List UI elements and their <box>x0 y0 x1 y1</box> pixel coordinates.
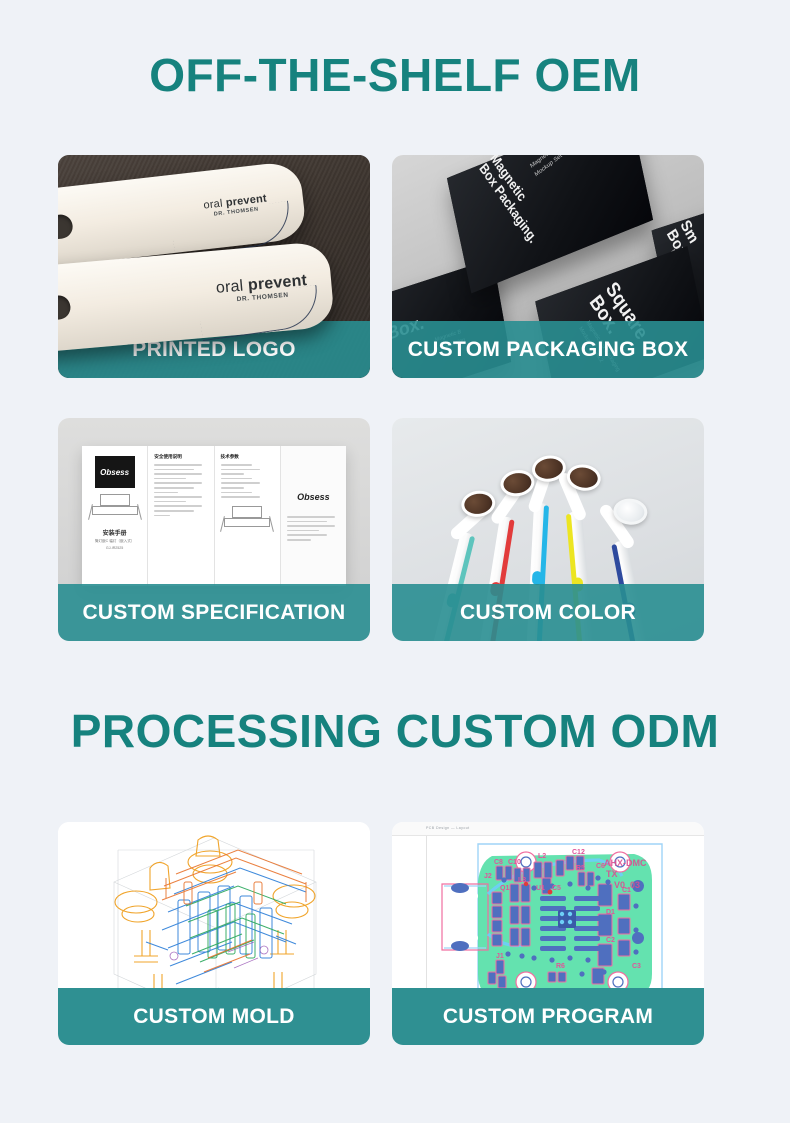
card-printed-logo[interactable]: oral prevent DR. THOMSEN oral prevent DR… <box>58 155 370 378</box>
pcb-ref-j2: J2 <box>484 873 492 880</box>
pcb-ref-c5: C5 <box>552 885 561 892</box>
pcb-ref-c2: C2 <box>606 937 615 944</box>
brochure-panel-safety: 安全使用说明 <box>148 446 214 586</box>
page-root: OFF-THE-SHELF OEM oral prevent DR. THOMS… <box>0 0 790 1123</box>
cover-subtitle-1: 筒灯嵌C 幅灯（嵌入式） <box>88 539 141 544</box>
card-custom-mold[interactable]: CUSTOM MOLD <box>58 822 370 1045</box>
card-caption-custom-packaging-box: CUSTOM PACKAGING BOX <box>392 321 704 378</box>
pcb-ref-c10: C10 <box>508 859 521 866</box>
back-brand-text: Obsess <box>287 492 340 502</box>
brochure: Obsess 安装手册 筒灯嵌C 幅灯（嵌入式） GJ-IR2525 安全使用说… <box>82 446 346 586</box>
pcb-ref-r5: R5 <box>576 865 585 872</box>
card-custom-color[interactable]: CUSTOM COLOR <box>392 418 704 641</box>
pcb-ref-l2: L2 <box>538 853 546 860</box>
pcb-ref-r6: R6 <box>556 963 565 970</box>
specs-heading: 技术参数 <box>221 454 274 460</box>
obsess-logo-text: Obsess <box>100 468 129 477</box>
card-custom-program[interactable]: PCB Design — Layout <box>392 822 704 1045</box>
brochure-panel-cover: Obsess 安装手册 筒灯嵌C 幅灯（嵌入式） GJ-IR2525 <box>82 446 148 586</box>
pcb-silk-3: V0_03 <box>614 880 640 890</box>
pcb-ref-j1: J1 <box>496 953 504 960</box>
card-caption-custom-color: CUSTOM COLOR <box>392 584 704 641</box>
card-caption-custom-specification: CUSTOM SPECIFICATION <box>58 584 370 641</box>
pcb-ref-l3: L3 <box>518 877 526 884</box>
lamp-diagram-icon <box>90 494 140 522</box>
handle-slot-icon <box>58 294 71 322</box>
back-contact-lines <box>287 516 340 541</box>
pcb-ref-q1: Q1 <box>500 885 509 892</box>
pcb-ref-c8: C8 <box>494 859 503 866</box>
pcb-ref-c3: C3 <box>632 963 641 970</box>
safety-heading: 安全使用说明 <box>154 454 207 460</box>
pcb-silk-1: AHX-DMC <box>604 858 647 868</box>
pcb-ref-u1: U1 <box>536 885 545 892</box>
pcb-silk-2: TX <box>606 869 618 879</box>
specs-text-lines <box>221 464 274 498</box>
handle-slot-icon <box>58 213 74 242</box>
cover-subtitle-2: GJ-IR2525 <box>88 546 141 551</box>
cover-title: 安装手册 <box>88 528 141 537</box>
section-heading-oem: OFF-THE-SHELF OEM <box>0 44 790 106</box>
card-custom-specification[interactable]: Obsess 安装手册 筒灯嵌C 幅灯（嵌入式） GJ-IR2525 安全使用说… <box>58 418 370 641</box>
card-custom-packaging-box[interactable]: e Box. Magnetic Bx Packaging MagneticBox… <box>392 155 704 378</box>
brochure-panel-specs: 技术参数 <box>215 446 281 586</box>
card-caption-custom-mold: CUSTOM MOLD <box>58 988 370 1045</box>
section-heading-odm: PROCESSING CUSTOM ODM <box>0 700 790 762</box>
card-caption-custom-program: CUSTOM PROGRAM <box>392 988 704 1045</box>
pcb-ref-c12: C12 <box>572 849 585 856</box>
pcb-ref-d1: D1 <box>606 909 615 916</box>
dimension-diagram-icon <box>222 506 272 534</box>
obsess-logo-icon: Obsess <box>95 456 135 488</box>
brochure-panel-back: Obsess <box>281 446 346 586</box>
safety-text-lines <box>154 464 207 516</box>
